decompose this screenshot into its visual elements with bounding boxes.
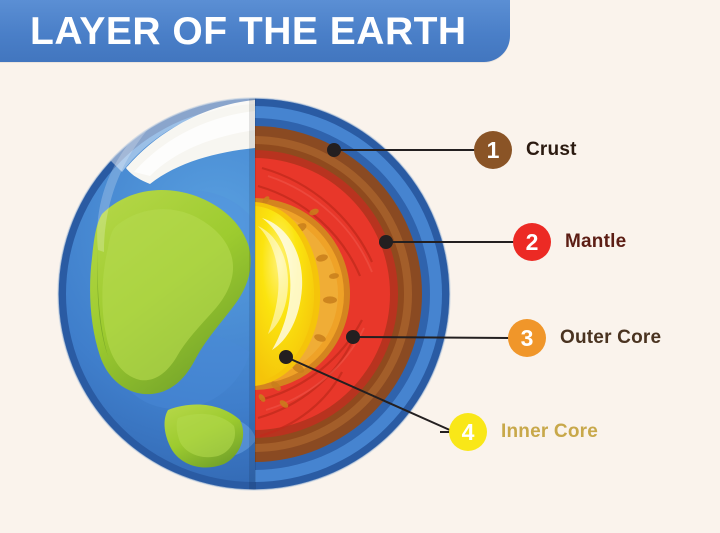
layer-outer-core (158, 198, 350, 390)
legend-number-3: 3 (521, 327, 534, 350)
layer-inner-core (255, 202, 320, 386)
legend-item-outer-core[interactable]: 3 Outer Core (508, 319, 661, 357)
legend-badge-2: 2 (513, 223, 551, 261)
leader-line-inner-core (286, 357, 455, 432)
legend-item-inner-core[interactable]: 4 Inner Core (449, 413, 598, 451)
page-title: LAYER OF THE EARTH (0, 12, 467, 51)
legend-badge-1: 1 (474, 131, 512, 169)
layer-mantle (110, 150, 398, 438)
legend-item-mantle[interactable]: 2 Mantle (513, 223, 626, 261)
layer-crust (86, 126, 422, 462)
legend-number-1: 1 (487, 139, 500, 162)
leader-dot-inner-core (279, 350, 293, 364)
legend-number-2: 2 (526, 231, 539, 254)
earth-interior-cutaway (58, 98, 450, 490)
legend-label-crust: Crust (526, 139, 577, 161)
earth-surface (58, 92, 450, 490)
leader-lines (286, 150, 516, 432)
legend-label-outer-core: Outer Core (560, 327, 661, 349)
leader-dot-outer-core (346, 330, 360, 344)
legend-label-inner-core: Inner Core (501, 421, 598, 443)
legend-badge-4: 4 (449, 413, 487, 451)
legend-item-crust[interactable]: 1 Crust (474, 131, 577, 169)
leader-dot-crust (327, 143, 341, 157)
earth-cutaway-illustration (0, 0, 720, 533)
legend-number-4: 4 (462, 421, 475, 444)
title-banner: LAYER OF THE EARTH (0, 0, 510, 62)
leader-dot-mantle (379, 235, 393, 249)
continents (90, 190, 251, 468)
leader-line-outer-core (353, 337, 511, 338)
legend-label-mantle: Mantle (565, 231, 626, 253)
legend-badge-3: 3 (508, 319, 546, 357)
leader-dots (279, 143, 393, 364)
diagram-canvas: LAYER OF THE EARTH (0, 0, 720, 533)
